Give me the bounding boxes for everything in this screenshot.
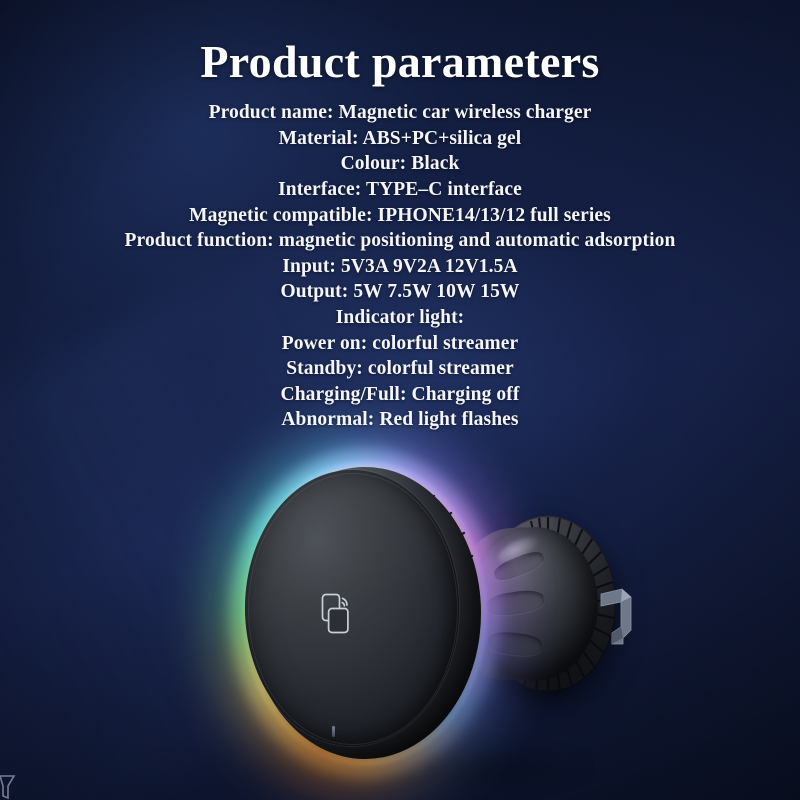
spec-list: Product name: Magnetic car wireless char…	[0, 100, 800, 433]
spec-line-power-on: Power on: colorful streamer	[0, 331, 800, 357]
spec-line-interface: Interface: TYPE–C interface	[0, 177, 800, 203]
product-parameters-image: Product parameters Product name: Magneti…	[0, 0, 800, 800]
spec-line-output: Output: 5W 7.5W 10W 15W	[0, 279, 800, 305]
spec-line-material: Material: ABS+PC+silica gel	[0, 126, 800, 152]
vent-clip	[600, 586, 634, 648]
spec-line-colour: Colour: Black	[0, 151, 800, 177]
spec-line-product-function: Product function: magnetic positioning a…	[0, 228, 800, 254]
spec-line-charging-full: Charging/Full: Charging off	[0, 382, 800, 408]
product-parameters-text-block: Product parameters Product name: Magneti…	[0, 38, 800, 433]
page-title: Product parameters	[0, 38, 800, 86]
spec-line-standby: Standby: colorful streamer	[0, 356, 800, 382]
charging-pad-notch	[332, 726, 335, 737]
wireless-charging-phone-icon	[320, 592, 356, 636]
spec-line-indicator-light: Indicator light:	[0, 305, 800, 331]
spec-line-abnormal: Abnormal: Red light flashes	[0, 407, 800, 433]
corner-watermark-fragment	[0, 772, 16, 800]
spec-line-magnetic-compatible: Magnetic compatible: IPHONE14/13/12 full…	[0, 203, 800, 229]
spec-line-input: Input: 5V3A 9V2A 12V1.5A	[0, 254, 800, 280]
spec-line-product-name: Product name: Magnetic car wireless char…	[0, 100, 800, 126]
